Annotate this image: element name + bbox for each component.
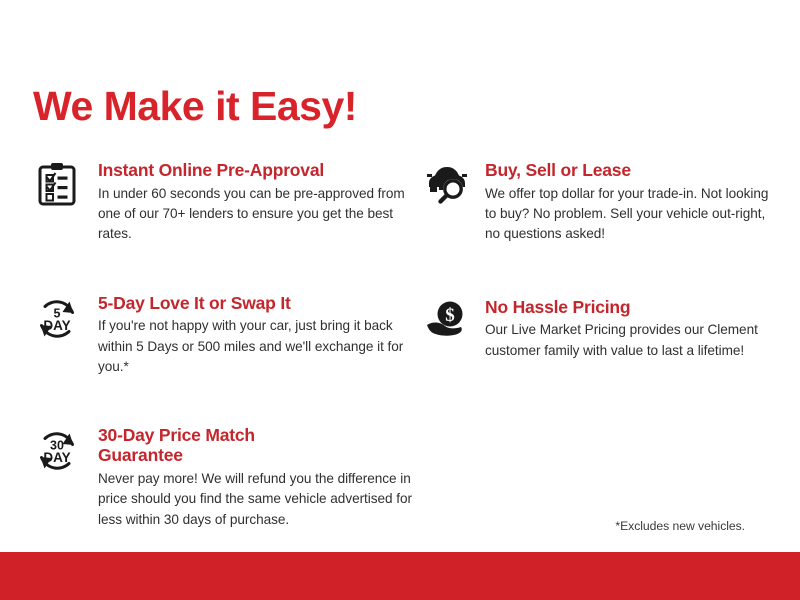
feature-title: Buy, Sell or Lease: [485, 160, 780, 181]
feature-title: No Hassle Pricing: [485, 297, 780, 318]
feature-description: Never pay more! We will refund you the d…: [98, 469, 420, 530]
feature-description: If you're not happy with your car, just …: [98, 316, 420, 377]
car-magnifier-icon: [420, 162, 474, 214]
feature-five-day-love-it-or-swap-it: 5 DAY 5-Day Love It or Swap It If you're…: [30, 293, 420, 378]
svg-text:$: $: [445, 305, 455, 326]
hand-holding-dollar-icon: $: [420, 299, 474, 351]
feature-description: We offer top dollar for your trade-in. N…: [485, 184, 780, 245]
feature-title: Instant Online Pre-Approval: [98, 160, 420, 181]
feature-description: In under 60 seconds you can be pre-appro…: [98, 184, 420, 245]
feature-buy-sell-or-lease: Buy, Sell or Lease We offer top dollar f…: [420, 160, 780, 245]
icon-label-bottom: DAY: [43, 318, 70, 333]
promo-page: We Make it Easy! Instant: [0, 0, 800, 600]
bottom-accent-bar: [0, 552, 800, 600]
features-column-left: Instant Online Pre-Approval In under 60 …: [30, 160, 420, 530]
features-column-right: Buy, Sell or Lease We offer top dollar f…: [420, 160, 780, 361]
feature-no-hassle-pricing: $ No Hassle Pricing Our Live Market Pric…: [420, 297, 780, 361]
thirty-day-cycle-icon: 30 DAY: [30, 427, 84, 479]
clipboard-checklist-icon: [30, 162, 84, 214]
footnote-disclaimer: *Excludes new vehicles.: [615, 519, 745, 533]
feature-body: Buy, Sell or Lease We offer top dollar f…: [420, 160, 780, 245]
feature-body: Instant Online Pre-Approval In under 60 …: [30, 160, 420, 245]
icon-label-bottom: DAY: [43, 450, 70, 465]
feature-description: Our Live Market Pricing provides our Cle…: [485, 320, 780, 361]
feature-body: 5-Day Love It or Swap It If you're not h…: [30, 293, 420, 378]
feature-thirty-day-price-match-guarantee: 30 DAY 30-Day Price Match Guarantee Neve…: [30, 425, 420, 530]
feature-body: 30-Day Price Match Guarantee Never pay m…: [30, 425, 420, 530]
feature-body: No Hassle Pricing Our Live Market Pricin…: [420, 297, 780, 361]
five-day-cycle-icon: 5 DAY: [30, 295, 84, 347]
feature-title: 5-Day Love It or Swap It: [98, 293, 420, 314]
feature-instant-online-pre-approval: Instant Online Pre-Approval In under 60 …: [30, 160, 420, 245]
feature-title: 30-Day Price Match Guarantee: [98, 425, 338, 466]
page-title: We Make it Easy!: [33, 86, 357, 127]
